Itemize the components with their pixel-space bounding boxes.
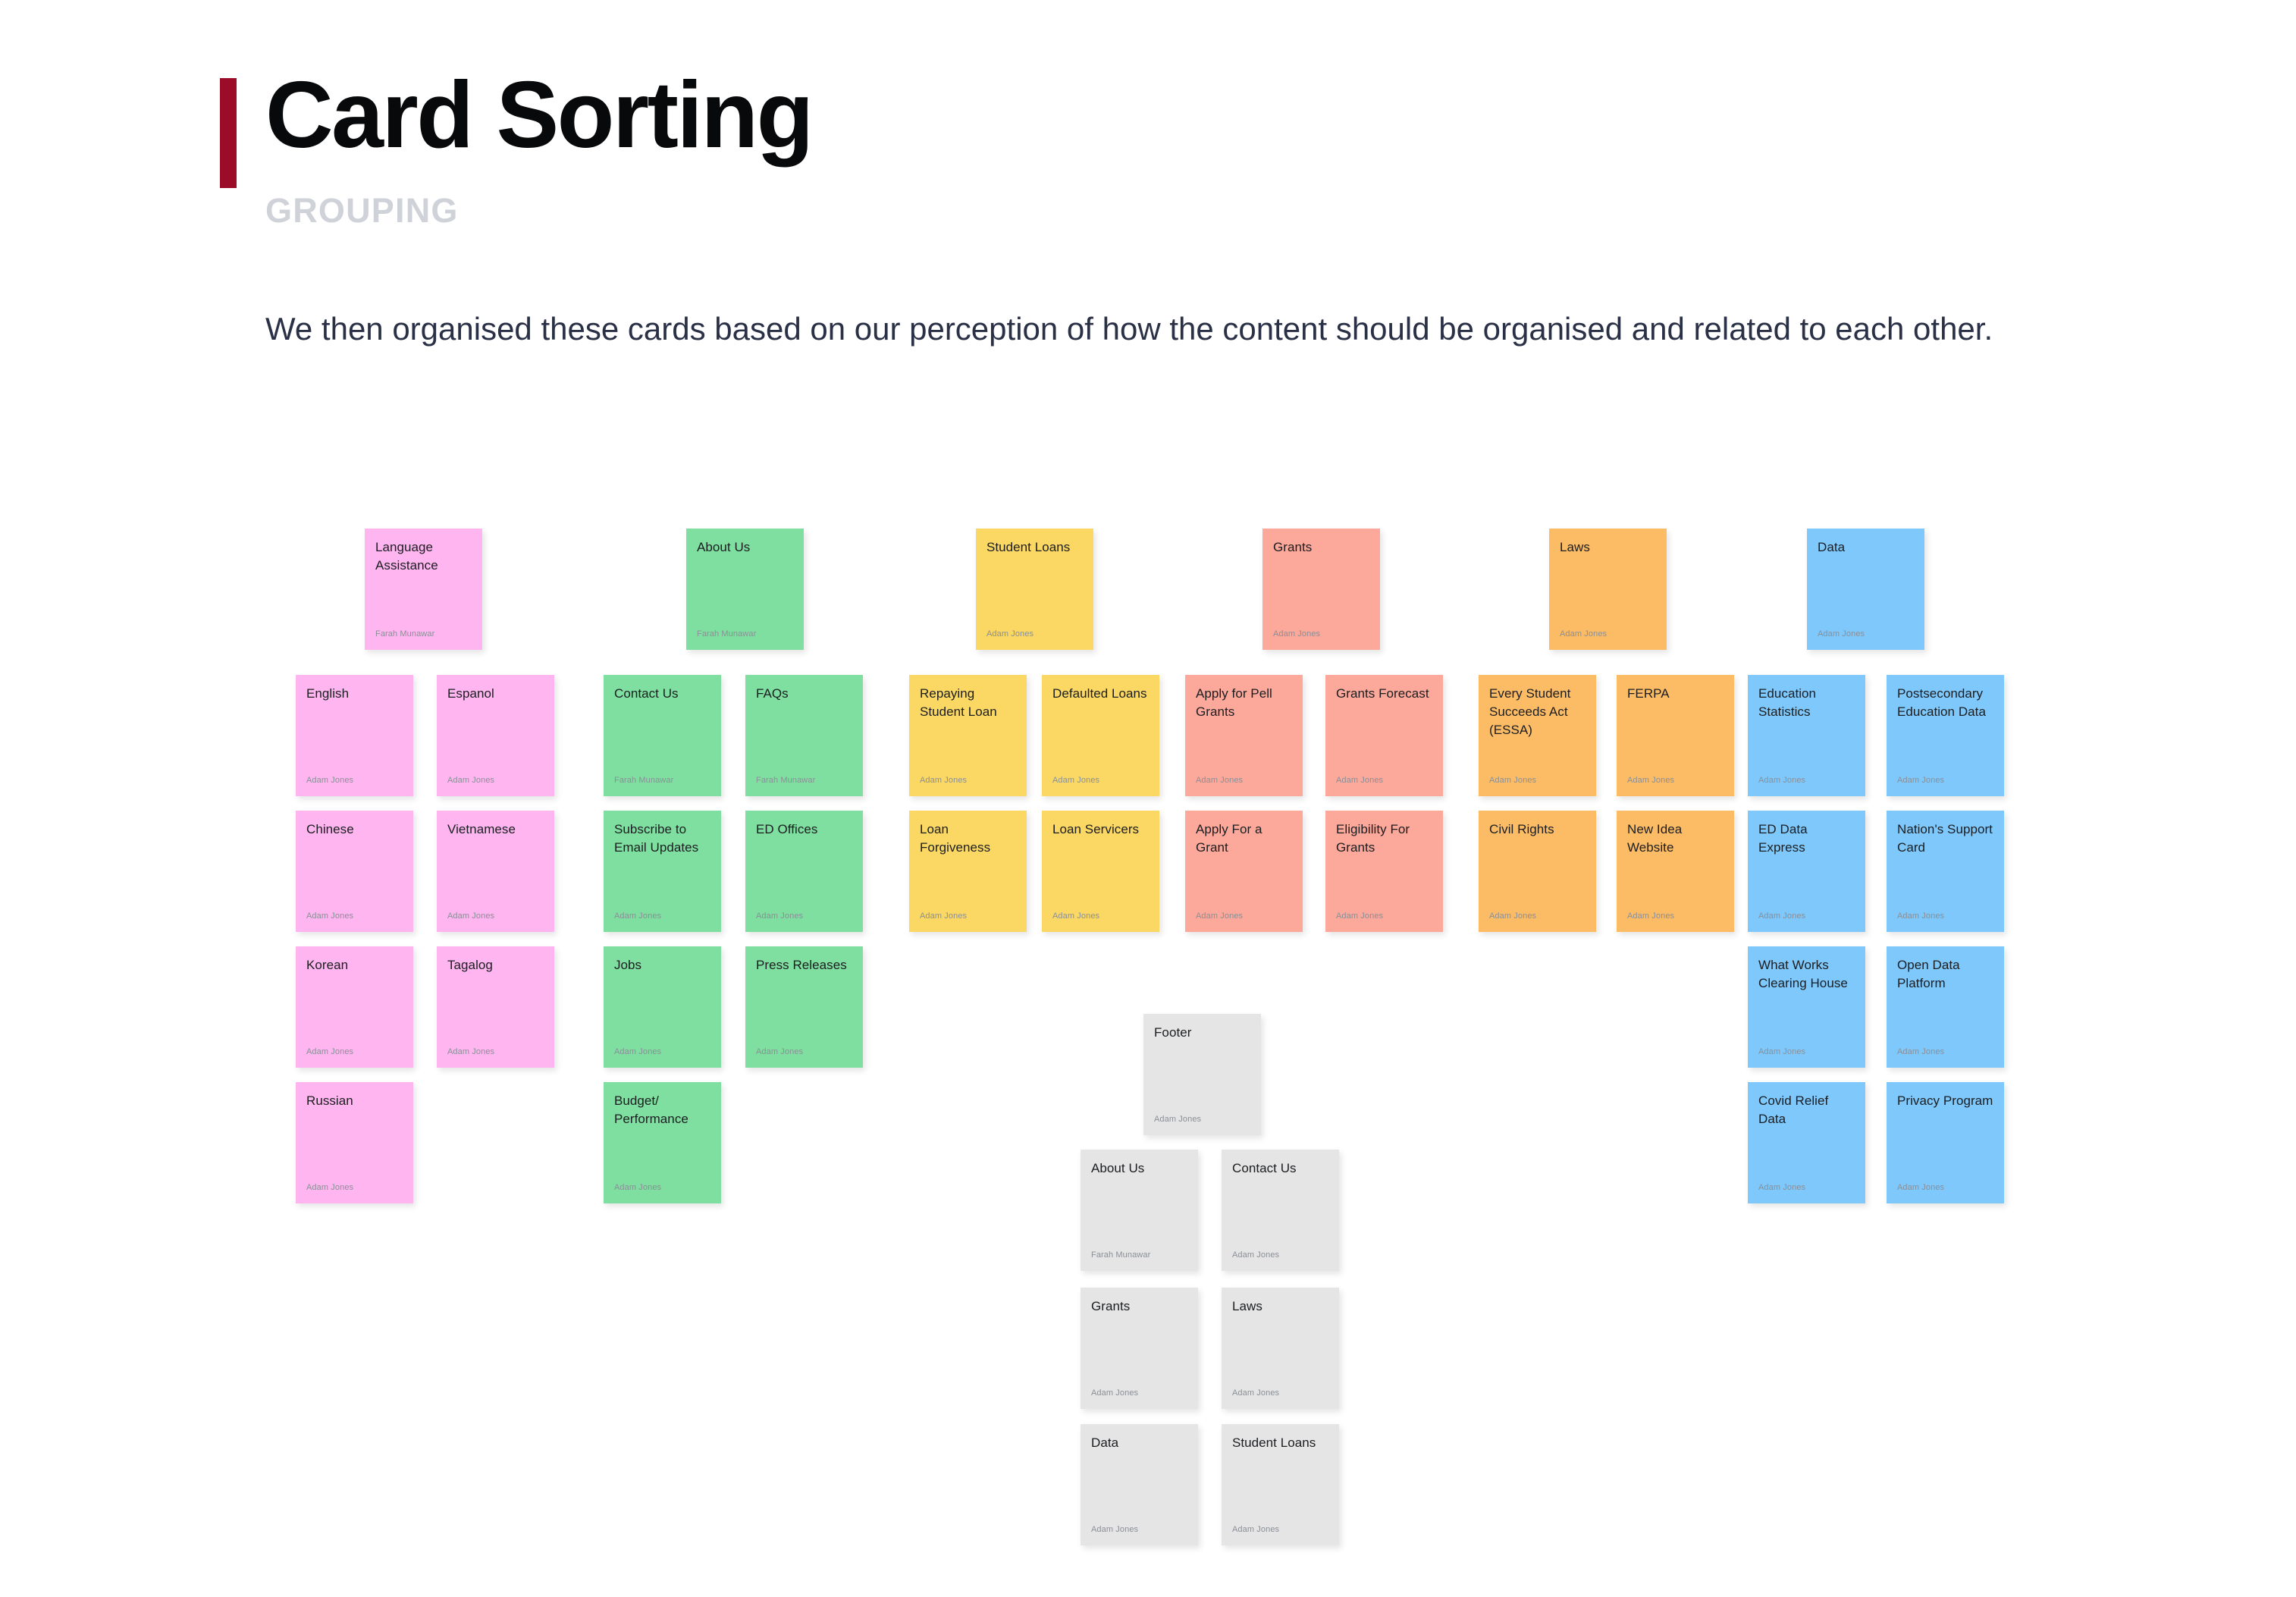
sticky-card[interactable]: About UsFarah Munawar — [1081, 1150, 1198, 1271]
card-author: Adam Jones — [1154, 1115, 1201, 1125]
card-title: Laws — [1232, 1297, 1328, 1316]
sticky-card[interactable]: Student LoansAdam Jones — [1222, 1424, 1339, 1545]
sticky-card[interactable]: LawsAdam Jones — [1222, 1288, 1339, 1409]
card-group-footer: FooterAdam JonesAbout UsFarah MunawarCon… — [0, 0, 2296, 1597]
card-title: Grants — [1091, 1297, 1187, 1316]
card-title: Student Loans — [1232, 1434, 1328, 1452]
card-title: Contact Us — [1232, 1159, 1328, 1178]
card-author: Adam Jones — [1232, 1525, 1279, 1535]
card-author: Adam Jones — [1232, 1388, 1279, 1398]
card-author: Farah Munawar — [1091, 1250, 1150, 1260]
card-title: Footer — [1154, 1024, 1250, 1042]
sticky-card[interactable]: Contact UsAdam Jones — [1222, 1150, 1339, 1271]
group-header-card-footer[interactable]: FooterAdam Jones — [1143, 1014, 1261, 1135]
card-author: Adam Jones — [1091, 1525, 1138, 1535]
sticky-card[interactable]: DataAdam Jones — [1081, 1424, 1198, 1545]
card-title: About Us — [1091, 1159, 1187, 1178]
card-author: Adam Jones — [1091, 1388, 1138, 1398]
card-title: Data — [1091, 1434, 1187, 1452]
card-sorting-board: Language AssistanceFarah MunawarEnglishA… — [0, 0, 2296, 1597]
sticky-card[interactable]: GrantsAdam Jones — [1081, 1288, 1198, 1409]
card-author: Adam Jones — [1232, 1250, 1279, 1260]
